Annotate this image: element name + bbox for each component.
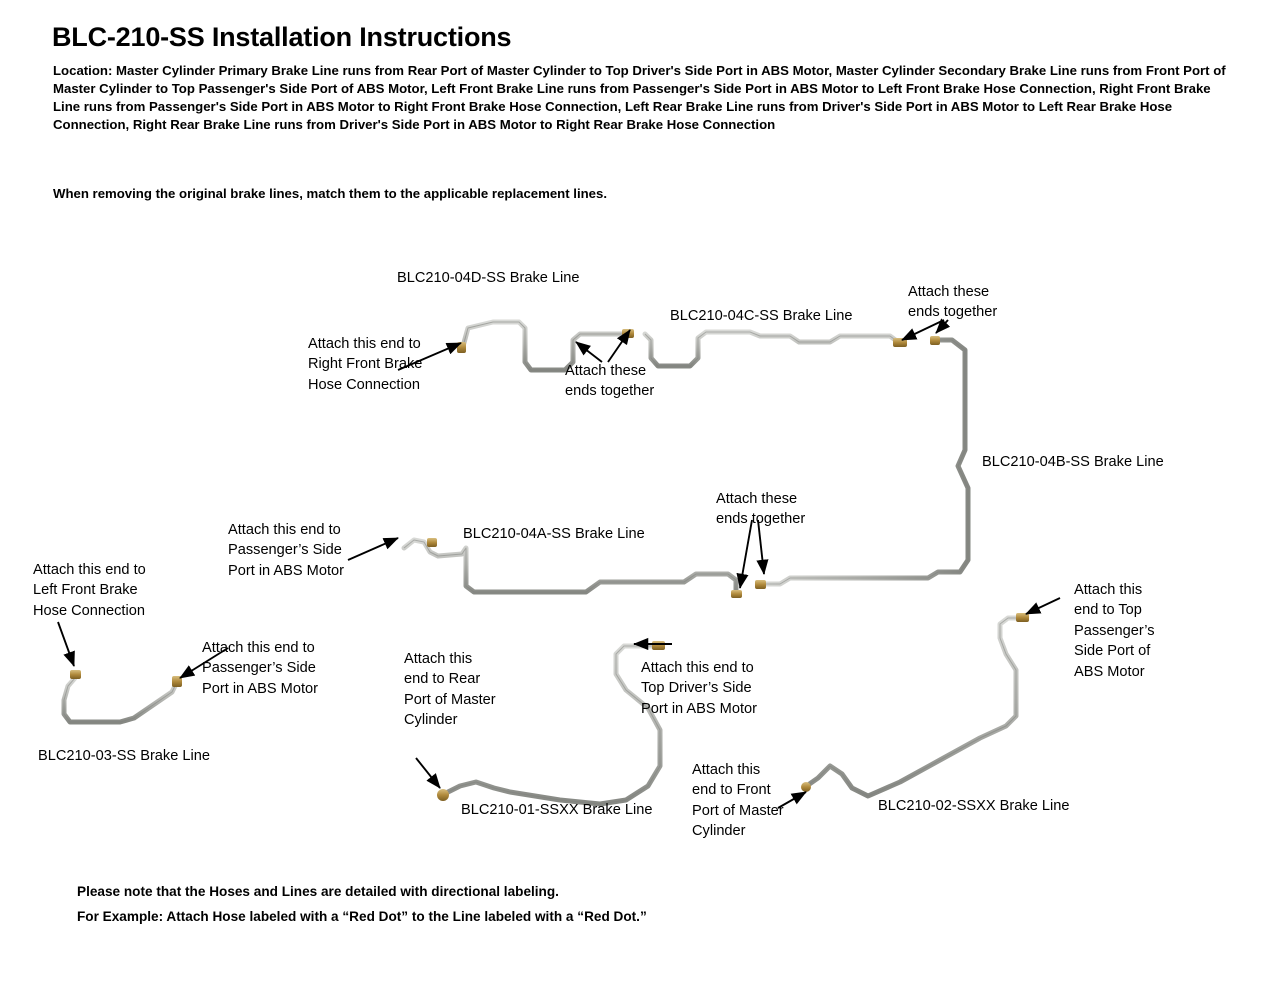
brake-line-02 [801, 613, 1029, 796]
callout-arrows [58, 320, 1060, 808]
callout-front-port-master: Attach this end to Front Port of Master … [692, 760, 784, 842]
fitting-03-left [70, 670, 81, 679]
label-line-02: BLC210-02-SSXX Brake Line [878, 796, 1069, 816]
label-line-03: BLC210-03-SS Brake Line [38, 746, 210, 766]
callout-ends-together-middle: Attach these ends together [716, 489, 805, 530]
brake-line-04c [645, 332, 907, 366]
label-line-04b: BLC210-04B-SS Brake Line [982, 452, 1164, 472]
callout-top-passenger-port: Attach this end to Top Passenger’s Side … [1074, 580, 1155, 682]
brake-line-illustration [0, 230, 1280, 870]
arrow-top-passenger-port [1026, 598, 1060, 614]
removal-note: When removing the original brake lines, … [53, 186, 607, 201]
callout-ends-together-upper-right: Attach these ends together [908, 282, 997, 323]
fitting-04a-left [427, 538, 437, 547]
fitting-01-right [652, 641, 665, 650]
fitting-02-left [801, 782, 811, 792]
fitting-04b-bottom [755, 580, 766, 589]
callout-passenger-port-03: Attach this end to Passenger’s Side Port… [202, 638, 318, 699]
fitting-04b-top [930, 336, 940, 345]
callout-ends-together-top: Attach these ends together [565, 361, 654, 402]
instruction-sheet: BLC-210-SS Installation Instructions Loc… [0, 0, 1280, 989]
footer-line-1: Please note that the Hoses and Lines are… [77, 879, 647, 904]
callout-top-drivers-port: Attach this end to Top Driver’s Side Por… [641, 658, 757, 719]
page-title: BLC-210-SS Installation Instructions [52, 22, 511, 53]
label-line-01: BLC210-01-SSXX Brake Line [461, 800, 652, 820]
brake-line-04b [755, 336, 968, 589]
footer-line-2: For Example: Attach Hose labeled with a … [77, 904, 647, 929]
label-line-04c: BLC210-04C-SS Brake Line [670, 306, 853, 326]
location-paragraph: Location: Master Cylinder Primary Brake … [53, 62, 1231, 134]
callout-rear-port-master: Attach this end to Rear Port of Master C… [404, 649, 496, 731]
fitting-04a-right [731, 590, 742, 598]
label-line-04d: BLC210-04D-SS Brake Line [397, 268, 580, 288]
label-line-04a: BLC210-04A-SS Brake Line [463, 524, 645, 544]
arrow-ends-together-top-a [576, 342, 602, 362]
arrow-rear-port-master [416, 758, 440, 788]
callout-right-front-hose: Attach this end to Right Front Brake Hos… [308, 334, 422, 395]
brake-line-03 [64, 670, 182, 722]
callout-passenger-port-04a: Attach this end to Passenger’s Side Port… [228, 520, 344, 581]
arrow-ends-together-middle-a [740, 520, 752, 588]
brake-line-diagram: BLC210-04D-SS Brake Line BLC210-04C-SS B… [0, 230, 1280, 870]
footer-note: Please note that the Hoses and Lines are… [77, 879, 647, 929]
brake-line-04a [404, 538, 742, 598]
fitting-01-left [437, 789, 449, 801]
callout-left-front-hose: Attach this end to Left Front Brake Hose… [33, 560, 146, 621]
arrow-left-front-hose [58, 622, 74, 666]
arrow-passenger-port-04a [348, 538, 398, 560]
